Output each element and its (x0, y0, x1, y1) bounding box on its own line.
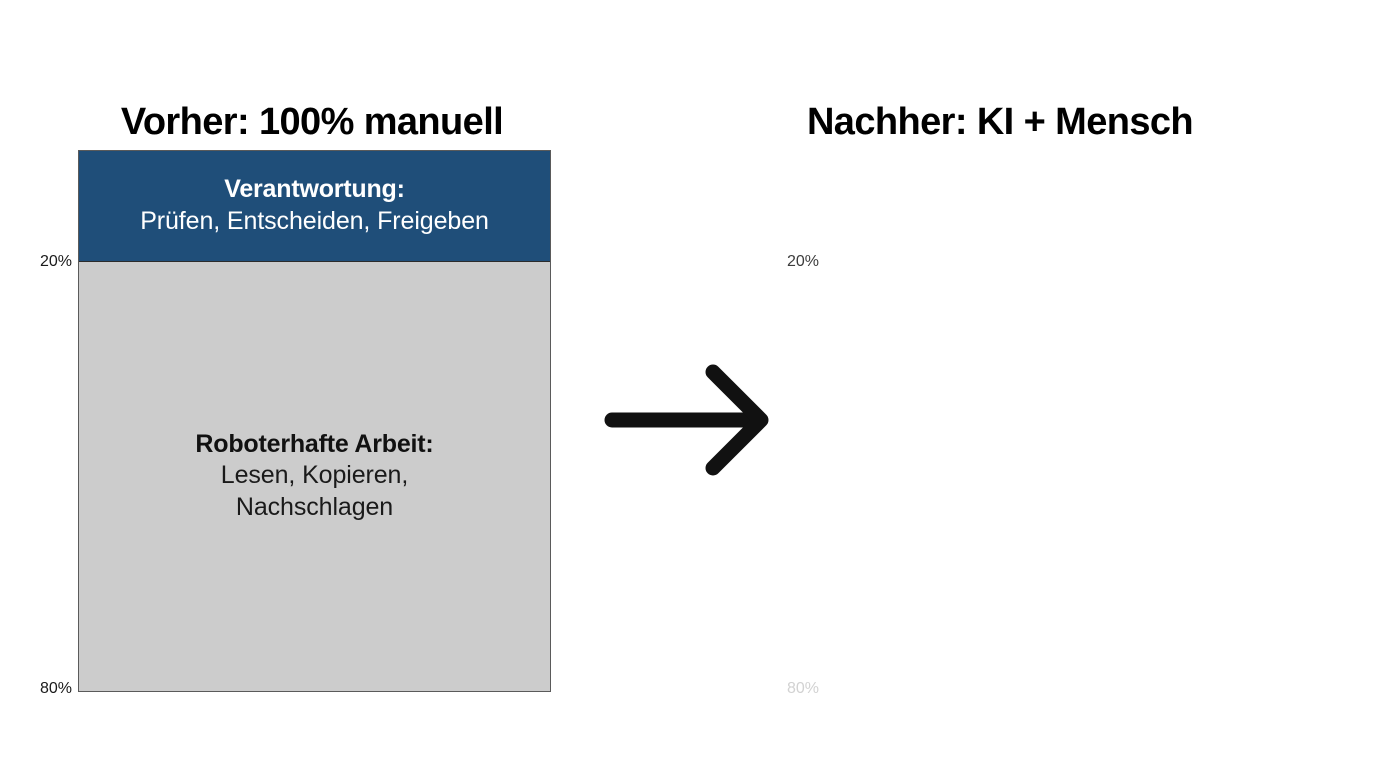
panel-after-title: Nachher: KI + Mensch (686, 102, 1314, 144)
panel-before: Vorher: 100% manuell Verantwortung: Prüf… (0, 0, 628, 768)
segment-responsibility-before: Verantwortung: Prüfen, Entscheiden, Frei… (79, 151, 550, 262)
axis-label-before-80: 80% (10, 681, 72, 697)
slide-canvas: Vorher: 100% manuell Verantwortung: Prüf… (0, 0, 1376, 768)
axis-label-before-20: 20% (10, 254, 72, 270)
panel-before-title: Vorher: 100% manuell (0, 102, 626, 144)
segment-before-bottom-subtext-line1: Lesen, Kopieren, (221, 460, 408, 492)
segment-before-top-subtext: Prüfen, Entscheiden, Freigeben (140, 206, 489, 238)
segment-robotic-work-before: Roboterhafte Arbeit: Lesen, Kopieren, Na… (79, 262, 550, 691)
axis-label-after-80: 80% (757, 681, 819, 697)
stacked-bar-before: Verantwortung: Prüfen, Entscheiden, Frei… (78, 150, 551, 692)
segment-before-top-heading: Verantwortung: (224, 174, 405, 205)
segment-before-bottom-heading: Roboterhafte Arbeit: (195, 429, 433, 460)
panel-after: Nachher: KI + Mensch Mensch: Veran (748, 0, 1376, 768)
segment-before-bottom-subtext-line2: Nachschlagen (236, 492, 393, 524)
axis-label-after-20: 20% (757, 254, 819, 270)
